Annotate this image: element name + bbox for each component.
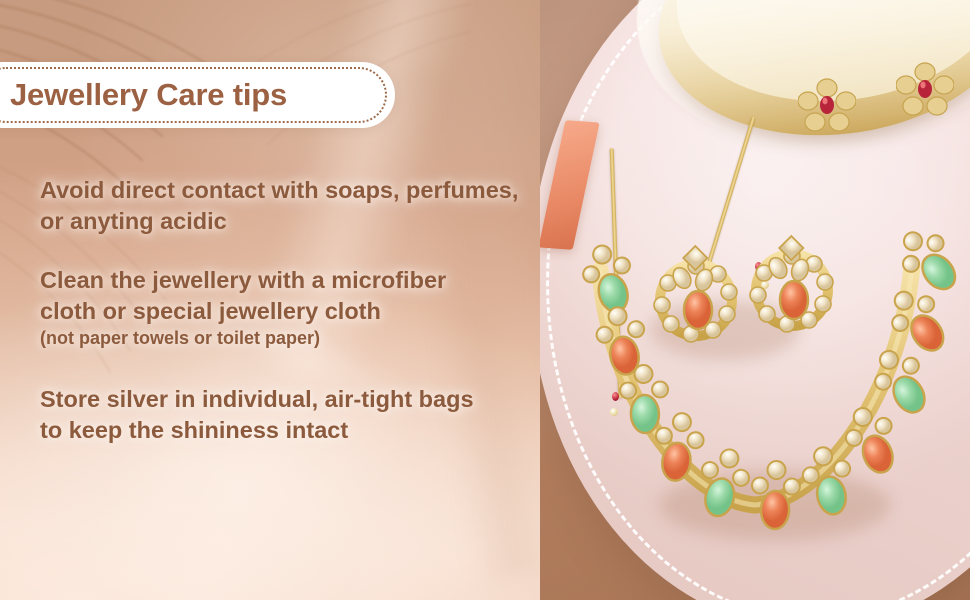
tip-line: cloth or special jewellery cloth: [40, 296, 560, 327]
tip-note: (not paper towels or toilet paper): [40, 327, 560, 350]
tip-line: to keep the shininess intact: [40, 415, 560, 446]
jewellery-photo: [540, 0, 970, 600]
title-banner: Jewellery Care tips: [0, 62, 395, 128]
infographic-canvas: Jewellery Care tips Avoid direct contact…: [0, 0, 970, 600]
tip-line: or anyting acidic: [40, 206, 560, 237]
tips-list: Avoid direct contact with soaps, perfume…: [40, 175, 560, 474]
tip-avoid-contact: Avoid direct contact with soaps, perfume…: [40, 175, 560, 236]
tip-clean-microfiber: Clean the jewellery with a microfiber cl…: [40, 265, 560, 350]
tip-line: Clean the jewellery with a microfiber: [40, 265, 560, 296]
tip-line: Store silver in individual, air-tight ba…: [40, 384, 560, 415]
page-title: Jewellery Care tips: [10, 62, 287, 128]
tip-store-airtight: Store silver in individual, air-tight ba…: [40, 384, 560, 445]
gold-necklace: [540, 0, 970, 600]
tip-line: Avoid direct contact with soaps, perfume…: [40, 175, 560, 206]
